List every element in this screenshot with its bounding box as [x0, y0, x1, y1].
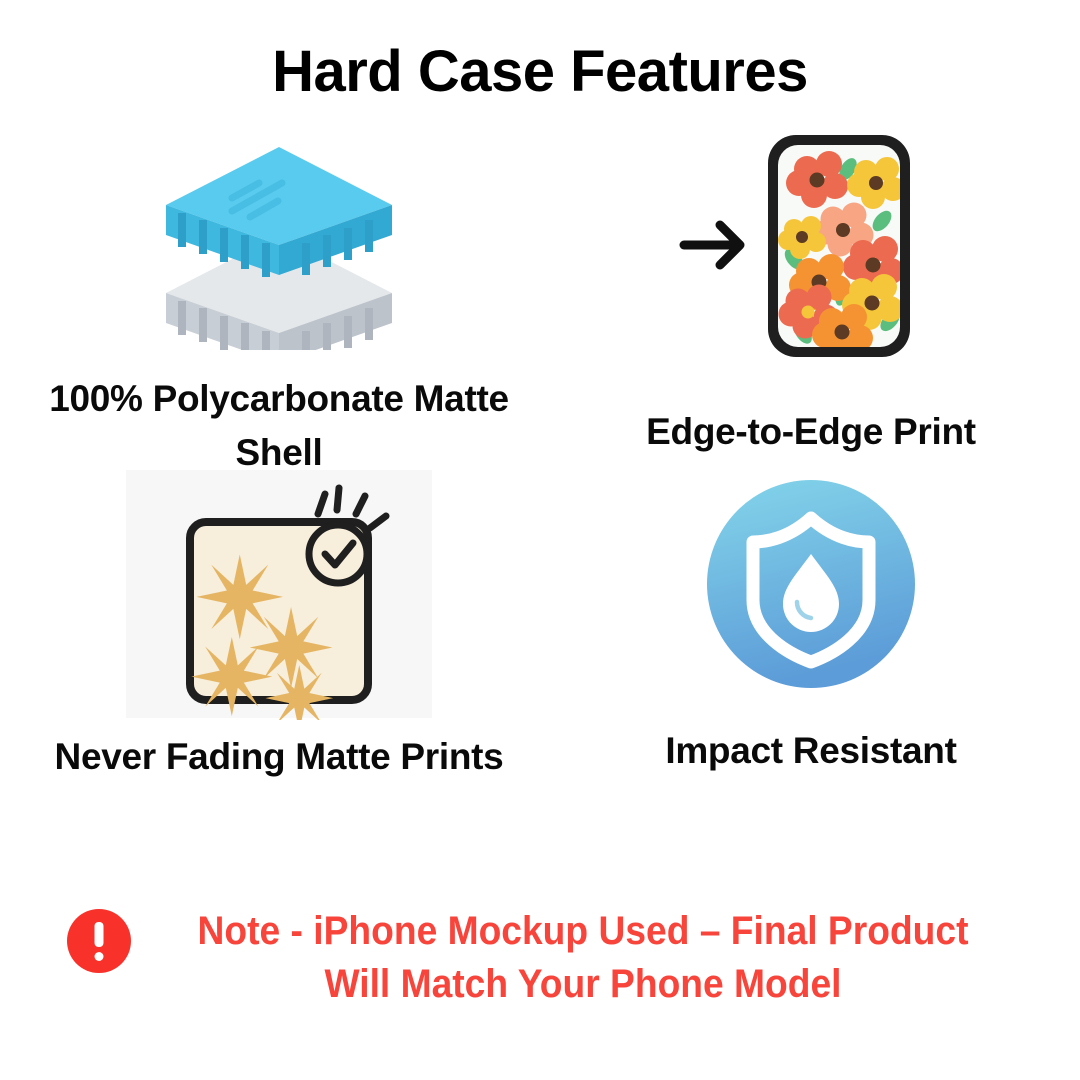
fade-proof-sparkle-icon-wrap — [18, 470, 540, 720]
fade-proof-sparkle-icon — [124, 470, 434, 720]
feature-label-polycarbonate: 100% Polycarbonate Matte Shell — [18, 372, 540, 479]
feature-item-impact-resistant: Impact Resistant — [556, 480, 1066, 830]
feature-item-polycarbonate: 100% Polycarbonate Matte Shell — [18, 135, 540, 505]
page-title: Hard Case Features — [0, 38, 1080, 105]
water-shield-badge-icon-wrap — [556, 480, 1066, 688]
feature-label-edge-to-edge: Edge-to-Edge Print — [556, 405, 1066, 459]
feature-label-impact-resistant: Impact Resistant — [556, 724, 1066, 778]
arrow-right-icon — [684, 225, 740, 265]
exclamation-bar — [95, 922, 104, 947]
layered-sheets-icon — [154, 135, 404, 350]
feature-item-edge-to-edge: Edge-to-Edge Print — [556, 125, 1066, 455]
disclaimer-text: Note - iPhone Mockup Used – Final Produc… — [183, 905, 983, 1011]
feature-label-never-fading: Never Fading Matte Prints — [18, 730, 540, 784]
floral-phone-case-icon-wrap — [556, 125, 1066, 365]
check-circle-icon — [309, 525, 367, 583]
disclaimer-note: Note - iPhone Mockup Used – Final Produc… — [0, 905, 1080, 1011]
feature-grid: 100% Polycarbonate Matte Shell — [0, 125, 1080, 865]
layered-sheets-icon-wrap — [18, 135, 540, 350]
exclamation-circle-icon — [67, 909, 131, 973]
feature-item-never-fading: Never Fading Matte Prints — [18, 470, 540, 865]
floral-phone-case-icon — [676, 125, 946, 365]
exclamation-dot — [95, 952, 104, 961]
water-shield-badge-icon — [707, 480, 915, 688]
